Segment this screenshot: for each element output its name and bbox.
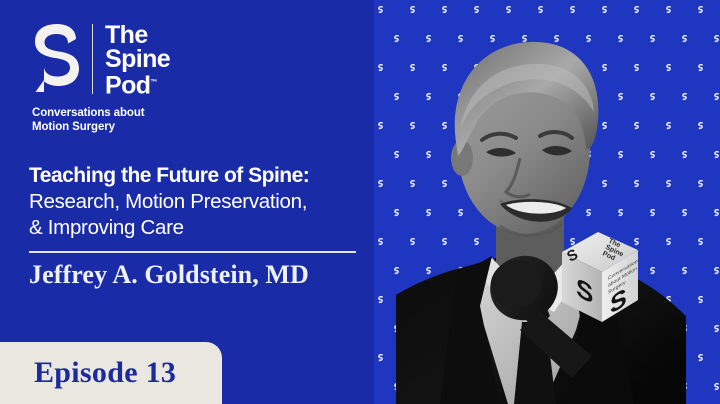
small-s-tick-icon xyxy=(714,151,720,159)
tagline-line-2: Motion Surgery xyxy=(32,121,115,133)
small-s-tick-icon xyxy=(378,354,384,362)
wordmark-line-pod: Pod xyxy=(105,71,150,99)
small-s-tick-icon xyxy=(378,296,384,304)
tagline-line-1: Conversations about xyxy=(32,107,144,119)
small-s-tick-icon xyxy=(698,64,704,72)
small-s-tick-icon xyxy=(378,180,384,188)
guest-portrait-photo: S S S The Spine Pod Conversations about … xyxy=(396,0,686,404)
episode-title-line-2: Research, Motion Preservation, xyxy=(29,189,377,215)
episode-number-label: Episode 13 xyxy=(0,356,176,390)
small-s-tick-icon xyxy=(378,64,384,72)
small-s-tick-icon xyxy=(378,238,384,246)
small-s-tick-icon xyxy=(714,383,720,391)
small-s-tick-icon xyxy=(714,93,720,101)
small-s-tick-icon xyxy=(698,6,704,14)
episode-title-line-1: Teaching the Future of Spine: xyxy=(29,163,377,189)
brand-wordmark: The Spine Pod™ xyxy=(105,22,170,97)
small-s-tick-icon xyxy=(714,325,720,333)
podcast-episode-thumbnail: S S S The Spine Pod Conversations about … xyxy=(0,0,720,404)
spine-s-monogram-icon xyxy=(32,22,82,94)
episode-number-banner: Episode 13 xyxy=(0,342,222,404)
brand-tagline: Conversations about Motion Surgery xyxy=(32,106,232,134)
guest-name: Jeffrey A. Goldstein, MD xyxy=(29,259,309,291)
small-s-tick-icon xyxy=(698,238,704,246)
small-s-tick-icon xyxy=(698,122,704,130)
trademark-symbol: ™ xyxy=(150,79,157,86)
small-s-tick-icon xyxy=(714,267,720,275)
small-s-tick-icon xyxy=(378,6,384,14)
small-s-tick-icon xyxy=(698,180,704,188)
logo-divider xyxy=(92,24,93,94)
episode-title: Teaching the Future of Spine: Research, … xyxy=(29,163,377,241)
small-s-tick-icon xyxy=(714,209,720,217)
brand-logo-block: The Spine Pod™ Conversations about Motio… xyxy=(32,22,232,134)
wordmark-line-spine: Spine xyxy=(105,45,170,73)
small-s-tick-icon xyxy=(698,354,704,362)
small-s-tick-icon xyxy=(378,122,384,130)
small-s-tick-icon xyxy=(698,296,704,304)
episode-title-line-3: & Improving Care xyxy=(29,215,377,241)
title-name-divider xyxy=(29,251,356,253)
small-s-tick-icon xyxy=(714,35,720,43)
